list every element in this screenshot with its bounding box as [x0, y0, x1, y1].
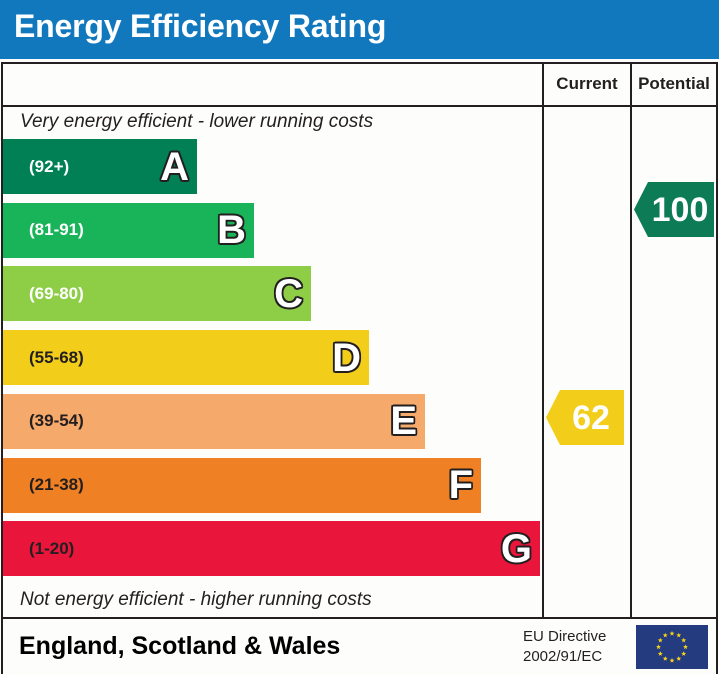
band-letter-e: E — [390, 401, 417, 441]
band-letter-g: G — [501, 529, 532, 569]
caption-efficient: Very energy efficient - lower running co… — [20, 111, 373, 133]
current-column-divider — [542, 64, 544, 617]
column-header-current: Current — [544, 74, 630, 94]
footer-row: England, Scotland & Wales EU Directive 2… — [3, 619, 716, 674]
potential-rating-value: 100 — [640, 193, 709, 227]
band-range-c: (69-80) — [29, 284, 84, 304]
header-row-divider — [3, 105, 716, 107]
band-c: (69-80)C — [3, 266, 311, 321]
energy-efficiency-certificate: Energy Efficiency Rating Current Potenti… — [0, 0, 719, 675]
band-a: (92+)A — [3, 139, 197, 194]
band-f: (21-38)F — [3, 458, 481, 513]
band-range-d: (55-68) — [29, 348, 84, 368]
band-letter-f: F — [449, 465, 473, 505]
band-letter-d: D — [332, 338, 361, 378]
band-range-f: (21-38) — [29, 475, 84, 495]
band-range-g: (1-20) — [29, 539, 74, 559]
band-letter-b: B — [217, 210, 246, 250]
band-range-b: (81-91) — [29, 220, 84, 240]
current-rating-value: 62 — [560, 401, 610, 435]
eu-directive-label: EU Directive 2002/91/EC — [523, 627, 631, 668]
current-rating-badge: 62 — [546, 390, 624, 445]
band-chart: (92+)A(81-91)B(69-80)C(55-68)D(39-54)E(2… — [3, 139, 540, 585]
page-title: Energy Efficiency Rating — [14, 8, 386, 45]
band-e: (39-54)E — [3, 394, 425, 449]
eu-directive-line1: EU Directive — [523, 627, 631, 647]
potential-rating-badge: 100 — [634, 182, 714, 237]
band-range-a: (92+) — [29, 157, 69, 177]
caption-inefficient: Not energy efficient - higher running co… — [20, 589, 372, 611]
potential-column-divider — [630, 64, 632, 617]
band-letter-c: C — [274, 274, 303, 314]
band-range-e: (39-54) — [29, 411, 84, 431]
header-bar: Energy Efficiency Rating — [0, 0, 719, 59]
band-letter-a: A — [160, 147, 189, 187]
column-header-potential: Potential — [632, 74, 716, 94]
rating-table: Current Potential Very energy efficient … — [1, 62, 718, 674]
eu-directive-line2: 2002/91/EC — [523, 647, 631, 667]
band-b: (81-91)B — [3, 203, 254, 258]
eu-flag-icon — [636, 625, 708, 669]
band-g: (1-20)G — [3, 521, 540, 576]
band-d: (55-68)D — [3, 330, 369, 385]
region-label: England, Scotland & Wales — [19, 632, 340, 661]
